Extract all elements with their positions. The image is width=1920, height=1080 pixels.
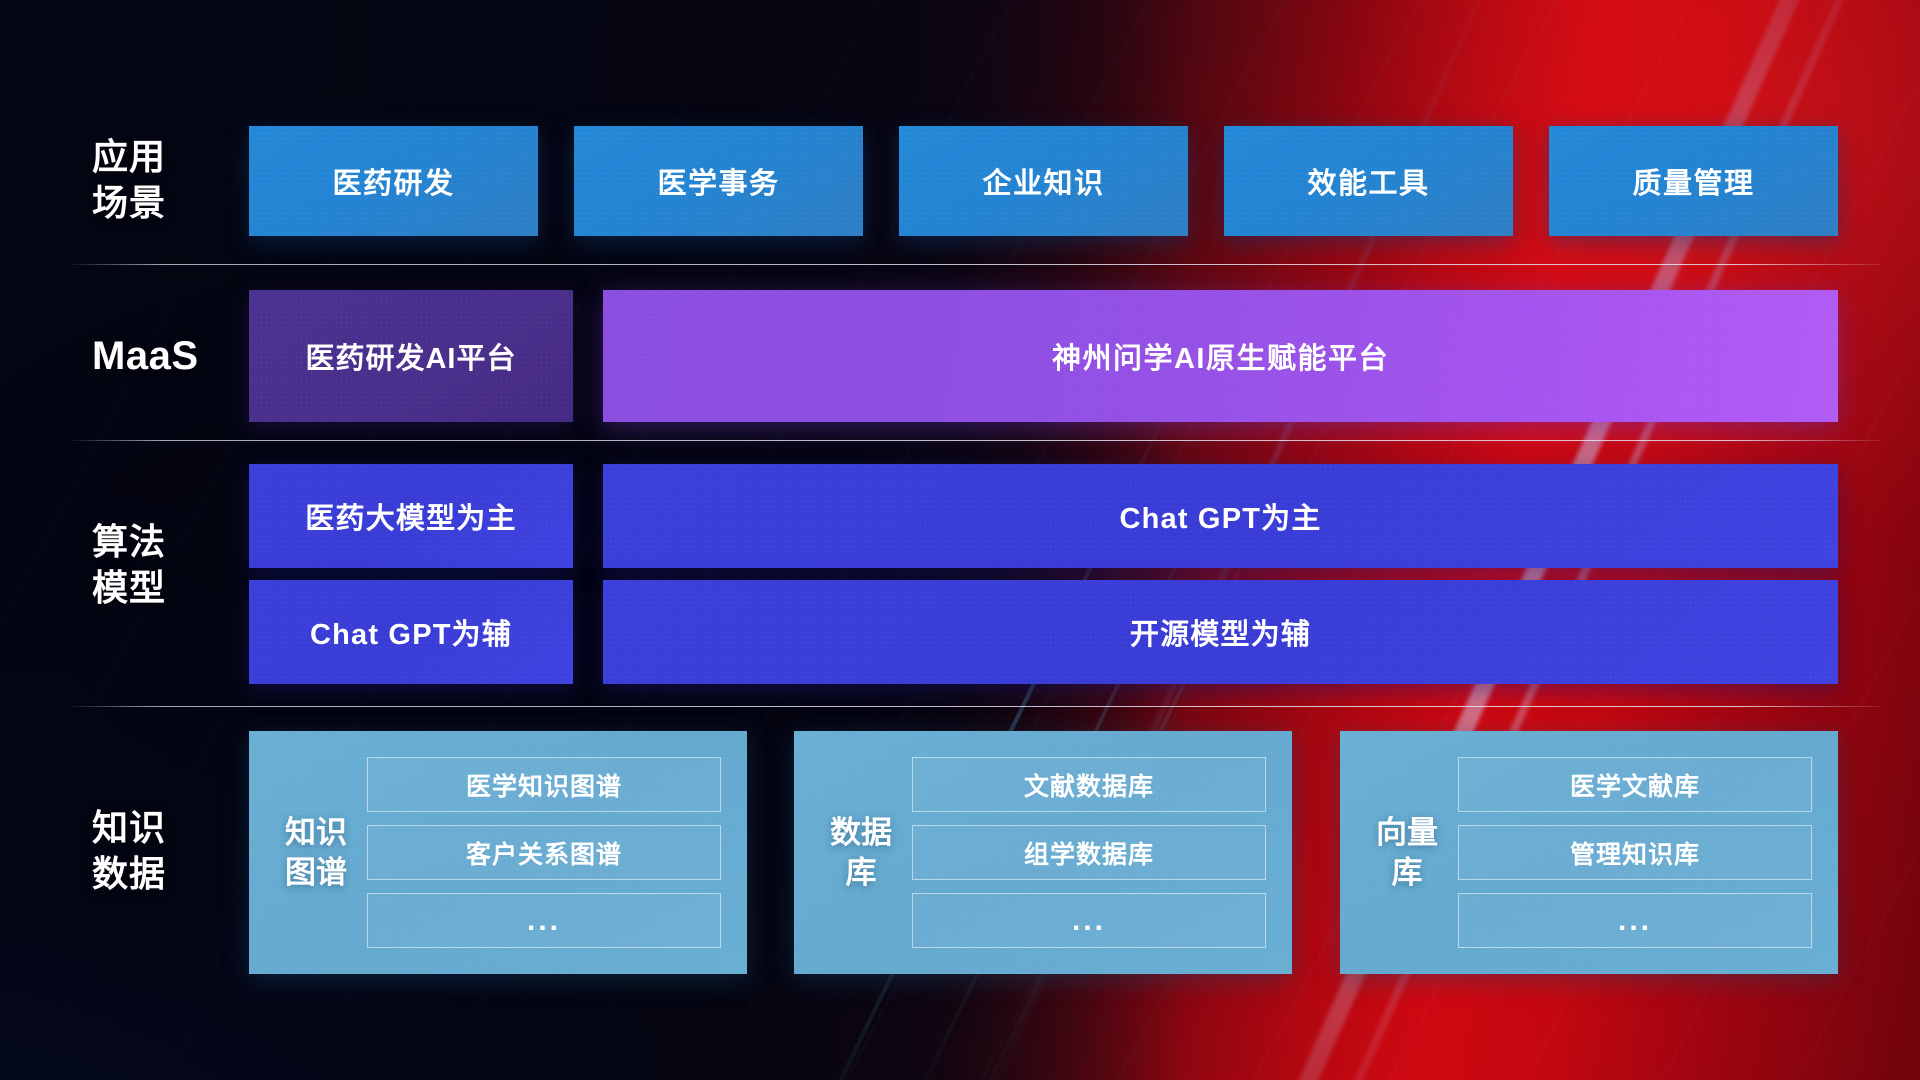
knowledge-item[interactable]: 管理知识库 [1458,825,1812,880]
knowledge-item-list: 文献数据库 组学数据库 ... [904,757,1292,948]
algorithm-box-right-1[interactable]: Chat GPT为主 [603,464,1838,568]
row-label-application: 应用 场景 [92,134,222,226]
row-label-knowledge: 知识 数据 [92,805,222,897]
knowledge-item[interactable]: 组学数据库 [912,825,1266,880]
app-scenario-label: 效能工具 [1307,160,1429,202]
knowledge-group-title: 向量库 [1364,813,1450,893]
knowledge-item-more[interactable]: ... [367,893,721,948]
knowledge-item-label: 文献数据库 [1024,767,1154,803]
section-divider-1 [72,264,1880,265]
algorithm-label: 开源模型为辅 [1130,611,1311,653]
knowledge-item[interactable]: 医学知识图谱 [367,757,721,812]
app-scenario-label: 医药研发 [332,160,454,202]
app-scenario-box-1[interactable]: 医药研发 [249,126,538,236]
knowledge-group-title: 数据库 [818,813,904,893]
knowledge-item-label: 组学数据库 [1024,835,1154,871]
knowledge-item[interactable]: 医学文献库 [1458,757,1812,812]
architecture-diagram: 应用 场景 医药研发 医学事务 企业知识 效能工具 质量管理 MaaS 医药研发… [0,0,1920,1080]
algorithm-box-left-1[interactable]: 医药大模型为主 [249,464,573,568]
app-scenario-box-2[interactable]: 医学事务 [574,126,863,236]
knowledge-item-label: 医学文献库 [1570,767,1700,803]
section-divider-2 [72,440,1880,441]
algorithm-box-right-2[interactable]: 开源模型为辅 [603,580,1838,684]
knowledge-item-list: 医学知识图谱 客户关系图谱 ... [359,757,747,948]
row-label-maas: MaaS [92,333,222,379]
row-label-algorithm: 算法 模型 [92,519,222,611]
knowledge-item[interactable]: 客户关系图谱 [367,825,721,880]
app-scenario-box-4[interactable]: 效能工具 [1224,126,1513,236]
maas-platform-label: 神州问学AI原生赋能平台 [1052,335,1389,377]
app-scenario-label: 质量管理 [1632,160,1754,202]
maas-platform-label: 医药研发AI平台 [305,335,516,377]
knowledge-item-label: 客户关系图谱 [466,835,622,871]
knowledge-item-label: ... [1072,904,1106,938]
knowledge-item-more[interactable]: ... [912,893,1266,948]
app-scenario-box-3[interactable]: 企业知识 [899,126,1188,236]
knowledge-item-label: ... [527,904,561,938]
knowledge-group-database[interactable]: 数据库 文献数据库 组学数据库 ... [794,731,1292,974]
app-scenario-box-5[interactable]: 质量管理 [1549,126,1838,236]
algorithm-label: 医药大模型为主 [305,495,516,537]
knowledge-item-more[interactable]: ... [1458,893,1812,948]
app-scenario-label: 企业知识 [982,160,1104,202]
maas-platform-box-left[interactable]: 医药研发AI平台 [249,290,573,422]
algorithm-label: Chat GPT为辅 [310,611,512,653]
algorithm-label: Chat GPT为主 [1119,495,1321,537]
maas-platform-box-right[interactable]: 神州问学AI原生赋能平台 [603,290,1838,422]
section-divider-3 [72,706,1880,707]
knowledge-item-label: 医学知识图谱 [466,767,622,803]
knowledge-item[interactable]: 文献数据库 [912,757,1266,812]
knowledge-item-list: 医学文献库 管理知识库 ... [1450,757,1838,948]
knowledge-group-vector-store[interactable]: 向量库 医学文献库 管理知识库 ... [1340,731,1838,974]
knowledge-group-title: 知识图谱 [273,813,359,893]
knowledge-item-label: ... [1618,904,1652,938]
app-scenario-label: 医学事务 [657,160,779,202]
knowledge-item-label: 管理知识库 [1570,835,1700,871]
knowledge-group-knowledge-graph[interactable]: 知识图谱 医学知识图谱 客户关系图谱 ... [249,731,747,974]
algorithm-box-left-2[interactable]: Chat GPT为辅 [249,580,573,684]
